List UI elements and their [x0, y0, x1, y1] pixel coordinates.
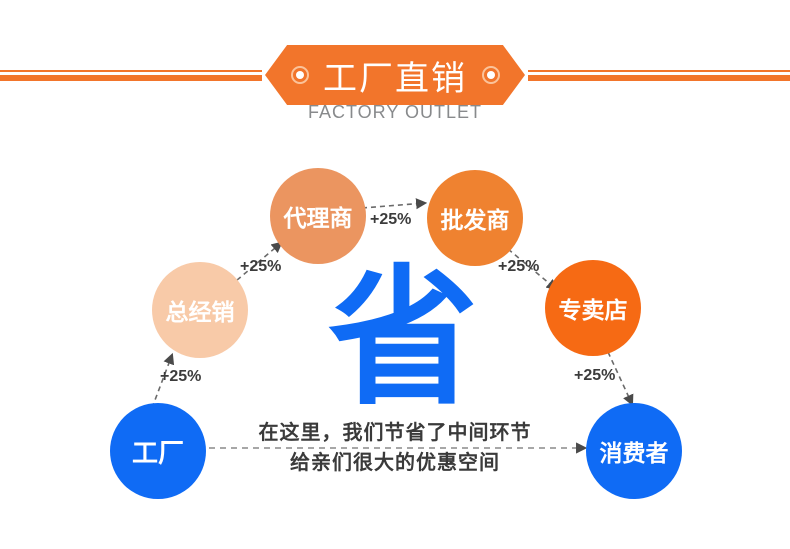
header-rule-left: [0, 70, 262, 81]
tagline-line-1: 在这里，我们节省了中间环节: [215, 418, 575, 448]
markup-label-2: +25%: [240, 258, 281, 276]
node-zhuanmaidian-label: 专卖店: [559, 291, 628, 325]
factory-outlet-infographic: 工厂直销 FACTORY OUTLET 工厂 总经销 代理商 批发商: [0, 0, 790, 549]
header-rule-right-thick: [528, 75, 790, 81]
markup-label-5: +25%: [574, 367, 615, 385]
markup-label-3: +25%: [370, 211, 411, 229]
node-xiaofeizhe-label: 消费者: [600, 434, 669, 468]
node-dailishang[interactable]: 代理商: [270, 168, 366, 264]
arrow-dailishang-to-pifashang: [362, 203, 425, 208]
header-rule-right-thin: [528, 70, 790, 72]
node-zongjingxiao[interactable]: 总经销: [152, 262, 248, 358]
markup-label-4: +25%: [498, 258, 539, 276]
header-rule-left-thick: [0, 75, 262, 81]
node-gongchang[interactable]: 工厂: [110, 403, 206, 499]
node-xiaofeizhe[interactable]: 消费者: [586, 403, 682, 499]
node-pifashang-label: 批发商: [441, 201, 510, 235]
node-zhuanmaidian[interactable]: 专卖店: [545, 260, 641, 356]
node-zongjingxiao-label: 总经销: [166, 293, 235, 327]
ring-dot-icon-left: [291, 66, 309, 84]
ring-dot-icon-right: [482, 66, 500, 84]
node-pifashang[interactable]: 批发商: [427, 170, 523, 266]
header-rule-left-thin: [0, 70, 262, 72]
markup-label-1: +25%: [160, 368, 201, 386]
header-subtitle: FACTORY OUTLET: [0, 102, 790, 123]
header-rule-right: [528, 70, 790, 81]
center-save-character: 省: [323, 258, 483, 418]
tagline: 在这里，我们节省了中间环节 给亲们很大的优惠空间: [215, 418, 575, 478]
tagline-line-2: 给亲们很大的优惠空间: [215, 448, 575, 478]
node-dailishang-label: 代理商: [284, 199, 353, 233]
node-gongchang-label: 工厂: [132, 433, 184, 470]
